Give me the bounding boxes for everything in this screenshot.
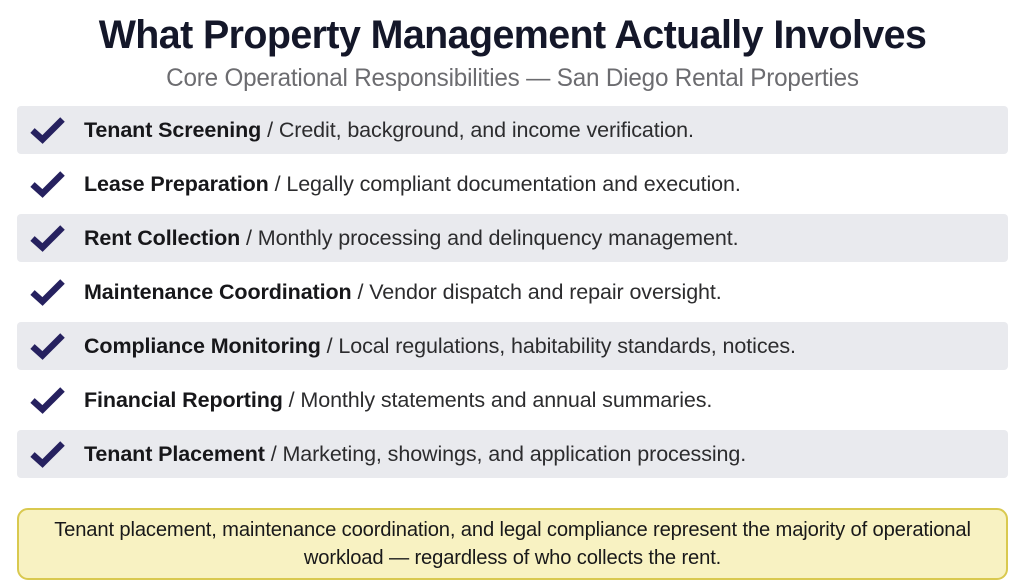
- list-item-text: Financial Reporting / Monthly statements…: [84, 387, 712, 413]
- list-item[interactable]: Financial Reporting / Monthly statements…: [17, 376, 1008, 424]
- list-item-separator: /: [327, 334, 333, 358]
- list-item[interactable]: Tenant Placement / Marketing, showings, …: [17, 430, 1008, 478]
- header: What Property Management Actually Involv…: [0, 0, 1025, 93]
- list-item[interactable]: Tenant Screening / Credit, background, a…: [17, 106, 1008, 154]
- list-item-term: Tenant Placement: [84, 442, 265, 466]
- list-item-text: Compliance Monitoring / Local regulation…: [84, 333, 796, 359]
- list-item-term: Rent Collection: [84, 226, 240, 250]
- list-item-description: Local regulations, habitability standard…: [338, 334, 795, 358]
- list-item-description: Marketing, showings, and application pro…: [282, 442, 746, 466]
- check-icon: [28, 275, 68, 309]
- list-item-description: Vendor dispatch and repair oversight.: [369, 280, 721, 304]
- list-item-separator: /: [289, 388, 295, 412]
- list-item-description: Monthly processing and delinquency manag…: [258, 226, 739, 250]
- page-subtitle: Core Operational Responsibilities — San …: [15, 63, 1009, 93]
- list-item[interactable]: Lease Preparation / Legally compliant do…: [17, 160, 1008, 208]
- list-item-text: Rent Collection / Monthly processing and…: [84, 225, 738, 251]
- summary-callout: Tenant placement, maintenance coordinati…: [17, 508, 1008, 580]
- list-item-term: Financial Reporting: [84, 388, 283, 412]
- slide-root: What Property Management Actually Involv…: [0, 0, 1025, 588]
- list-item[interactable]: Rent Collection / Monthly processing and…: [17, 214, 1008, 262]
- list-item-text: Tenant Placement / Marketing, showings, …: [84, 441, 746, 467]
- list-item[interactable]: Maintenance Coordination / Vendor dispat…: [17, 268, 1008, 316]
- list-item-separator: /: [267, 118, 273, 142]
- check-icon: [28, 437, 68, 471]
- summary-callout-text: Tenant placement, maintenance coordinati…: [50, 516, 975, 572]
- list-item-term: Tenant Screening: [84, 118, 261, 142]
- check-icon: [28, 113, 68, 147]
- list-item-text: Lease Preparation / Legally compliant do…: [84, 171, 741, 197]
- list-item-separator: /: [275, 172, 281, 196]
- check-icon: [28, 383, 68, 417]
- list-item-description: Monthly statements and annual summaries.: [300, 388, 712, 412]
- list-item-text: Maintenance Coordination / Vendor dispat…: [84, 279, 722, 305]
- page-title: What Property Management Actually Involv…: [8, 12, 1018, 58]
- list-item-term: Lease Preparation: [84, 172, 269, 196]
- list-item-description: Credit, background, and income verificat…: [279, 118, 694, 142]
- responsibilities-list: Tenant Screening / Credit, background, a…: [0, 106, 1025, 478]
- list-item-separator: /: [271, 442, 277, 466]
- list-item-term: Compliance Monitoring: [84, 334, 321, 358]
- list-item-separator: /: [357, 280, 363, 304]
- list-item-description: Legally compliant documentation and exec…: [286, 172, 740, 196]
- check-icon: [28, 221, 68, 255]
- check-icon: [28, 167, 68, 201]
- list-item-separator: /: [246, 226, 252, 250]
- check-icon: [28, 329, 68, 363]
- list-item-term: Maintenance Coordination: [84, 280, 352, 304]
- list-item-text: Tenant Screening / Credit, background, a…: [84, 117, 694, 143]
- list-item[interactable]: Compliance Monitoring / Local regulation…: [17, 322, 1008, 370]
